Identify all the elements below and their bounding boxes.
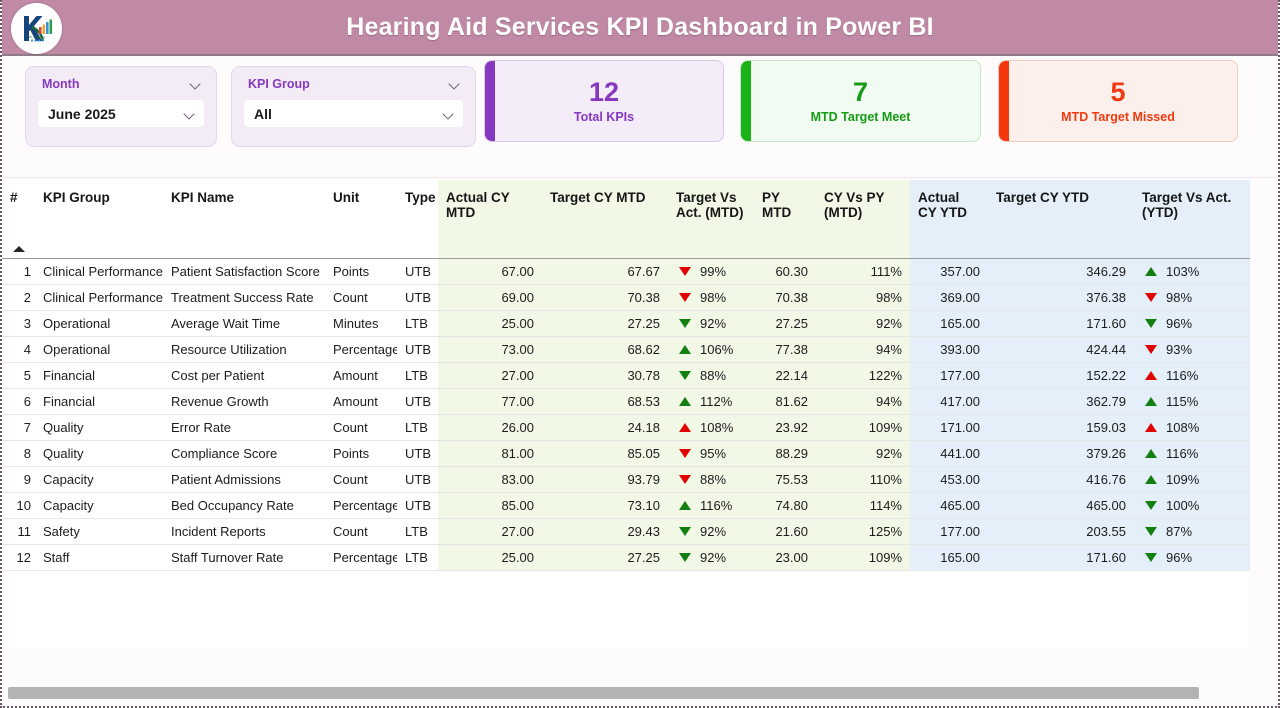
cell-target-vs-act-ytd-value: 96%	[1166, 550, 1204, 565]
cell-target-vs-act-ytd-value: 87%	[1166, 524, 1204, 539]
cell-target-vs-act-mtd-value: 92%	[700, 524, 738, 539]
kpi-matrix-container: # KPI Group KPI Name Unit Type Actual CY…	[2, 180, 1278, 706]
mtd-target-meet-label: MTD Target Meet	[811, 110, 911, 124]
cell-name: Treatment Success Rate	[163, 284, 325, 310]
column-header-unit[interactable]: Unit	[325, 180, 397, 258]
cell-unit: Count	[325, 414, 397, 440]
cell-target-vs-act-mtd-value: 112%	[700, 394, 738, 409]
cell-group: Capacity	[35, 492, 163, 518]
total-kpis-label: Total KPIs	[574, 110, 634, 124]
cell-actual_cy_ytd: 177.00	[910, 518, 988, 544]
cell-name: Resource Utilization	[163, 336, 325, 362]
trend-down-red-icon	[679, 449, 691, 458]
cell-cy_vs_py_mtd: 94%	[816, 336, 910, 362]
cell-cy_vs_py_mtd: 94%	[816, 388, 910, 414]
table-row[interactable]: 10CapacityBed Occupancy RatePercentageUT…	[2, 492, 1250, 518]
sort-ascending-icon[interactable]	[13, 246, 25, 252]
month-slicer-label: Month	[42, 77, 79, 91]
cell-actual_cy_ytd: 369.00	[910, 284, 988, 310]
trend-down-green-icon	[1145, 527, 1157, 536]
cell-actual_cy_mtd: 73.00	[438, 336, 542, 362]
cell-actual_cy_mtd: 69.00	[438, 284, 542, 310]
column-header-index[interactable]: #	[2, 180, 35, 258]
cell-py_mtd: 74.80	[754, 492, 816, 518]
cell-py_mtd: 21.60	[754, 518, 816, 544]
trend-down-green-icon	[1145, 319, 1157, 328]
cell-target-vs-act-mtd-value: 106%	[700, 342, 738, 357]
table-row[interactable]: 11SafetyIncident ReportsCountLTB27.0029.…	[2, 518, 1250, 544]
month-dropdown[interactable]: June 2025	[38, 100, 204, 127]
cell-target_cy_ytd: 376.38	[988, 284, 1134, 310]
cell-target_cy_mtd: 67.67	[542, 258, 668, 284]
trend-down-green-icon	[679, 527, 691, 536]
chevron-down-icon[interactable]	[449, 78, 461, 90]
cell-target-vs-act-mtd: 116%	[668, 492, 754, 518]
cell-idx: 11	[2, 518, 35, 544]
cell-unit: Points	[325, 258, 397, 284]
cell-group: Clinical Performance	[35, 258, 163, 284]
column-header-target-vs-act-ytd[interactable]: Target Vs Act. (YTD)	[1134, 180, 1250, 258]
mtd-target-missed-label: MTD Target Missed	[1061, 110, 1175, 124]
cell-target-vs-act-mtd-value: 116%	[700, 498, 738, 513]
cell-actual_cy_mtd: 26.00	[438, 414, 542, 440]
trend-down-green-icon	[1145, 501, 1157, 510]
cell-idx: 6	[2, 388, 35, 414]
cell-target-vs-act-ytd-value: 109%	[1166, 472, 1204, 487]
cell-idx: 5	[2, 362, 35, 388]
kpi-group-dropdown[interactable]: All	[244, 100, 463, 127]
cell-target_cy_ytd: 362.79	[988, 388, 1134, 414]
cell-target-vs-act-ytd: 87%	[1134, 518, 1250, 544]
trend-down-green-icon	[679, 371, 691, 380]
cell-target-vs-act-ytd-value: 116%	[1166, 368, 1204, 383]
cell-unit: Count	[325, 518, 397, 544]
cell-idx: 10	[2, 492, 35, 518]
table-row[interactable]: 6FinancialRevenue GrowthAmountUTB77.0068…	[2, 388, 1250, 414]
cell-actual_cy_ytd: 441.00	[910, 440, 988, 466]
cell-idx: 1	[2, 258, 35, 284]
cell-group: Financial	[35, 388, 163, 414]
column-header-target-cy-ytd[interactable]: Target CY YTD	[988, 180, 1134, 258]
report-page: RK Analytics Hearing Aid Services KPI Da…	[0, 0, 1280, 708]
cell-py_mtd: 77.38	[754, 336, 816, 362]
cell-actual_cy_mtd: 83.00	[438, 466, 542, 492]
trend-down-green-icon	[1145, 553, 1157, 562]
trend-down-red-icon	[1145, 293, 1157, 302]
control-strip: Month June 2025 KPI Group All	[2, 56, 1278, 178]
trend-up-green-icon	[1145, 267, 1157, 276]
table-row[interactable]: 2Clinical PerformanceTreatment Success R…	[2, 284, 1250, 310]
card-accent-bar	[485, 61, 495, 141]
cell-target-vs-act-mtd: 112%	[668, 388, 754, 414]
kpi-matrix-header-row: # KPI Group KPI Name Unit Type Actual CY…	[2, 180, 1250, 258]
cell-target_cy_mtd: 24.18	[542, 414, 668, 440]
cell-unit: Points	[325, 440, 397, 466]
cell-actual_cy_ytd: 357.00	[910, 258, 988, 284]
total-kpis-value: 12	[589, 78, 619, 106]
cell-target-vs-act-mtd-value: 98%	[700, 290, 738, 305]
cell-name: Average Wait Time	[163, 310, 325, 336]
cell-group: Safety	[35, 518, 163, 544]
cell-actual_cy_ytd: 393.00	[910, 336, 988, 362]
cell-target-vs-act-ytd-value: 98%	[1166, 290, 1204, 305]
trend-up-red-icon	[1145, 371, 1157, 380]
cell-type: LTB	[397, 414, 438, 440]
cell-actual_cy_mtd: 81.00	[438, 440, 542, 466]
chevron-down-icon[interactable]	[184, 108, 196, 120]
cell-target-vs-act-ytd: 93%	[1134, 336, 1250, 362]
cell-name: Staff Turnover Rate	[163, 544, 325, 570]
cell-target-vs-act-ytd: 96%	[1134, 544, 1250, 570]
cell-target-vs-act-mtd-value: 92%	[700, 550, 738, 565]
trend-up-green-icon	[679, 501, 691, 510]
trend-up-red-icon	[1145, 423, 1157, 432]
cell-name: Patient Satisfaction Score	[163, 258, 325, 284]
cell-type: UTB	[397, 466, 438, 492]
cell-target-vs-act-ytd-value: 100%	[1166, 498, 1204, 513]
cell-target-vs-act-mtd: 92%	[668, 310, 754, 336]
cell-target-vs-act-mtd-value: 88%	[700, 368, 738, 383]
cell-cy_vs_py_mtd: 98%	[816, 284, 910, 310]
cell-idx: 3	[2, 310, 35, 336]
cell-unit: Percentage	[325, 492, 397, 518]
trend-up-green-icon	[679, 345, 691, 354]
trend-down-green-icon	[679, 553, 691, 562]
cell-actual_cy_ytd: 171.00	[910, 414, 988, 440]
table-row[interactable]: 9CapacityPatient AdmissionsCountUTB83.00…	[2, 466, 1250, 492]
mtd-target-missed-value: 5	[1110, 78, 1125, 106]
cell-type: UTB	[397, 492, 438, 518]
kpi-matrix-body: 1Clinical PerformancePatient Satisfactio…	[2, 258, 1250, 570]
cell-group: Quality	[35, 414, 163, 440]
horizontal-scrollbar-thumb[interactable]	[8, 687, 1199, 699]
month-slicer[interactable]: Month June 2025	[25, 66, 217, 147]
cell-unit: Count	[325, 284, 397, 310]
cell-type: UTB	[397, 258, 438, 284]
cell-actual_cy_mtd: 77.00	[438, 388, 542, 414]
cell-name: Compliance Score	[163, 440, 325, 466]
kpi-group-slicer[interactable]: KPI Group All	[231, 66, 476, 147]
cell-name: Patient Admissions	[163, 466, 325, 492]
cell-actual_cy_ytd: 165.00	[910, 310, 988, 336]
cell-target_cy_ytd: 379.26	[988, 440, 1134, 466]
cell-target-vs-act-mtd-value: 88%	[700, 472, 738, 487]
horizontal-scrollbar[interactable]	[8, 687, 1272, 699]
cell-target-vs-act-mtd: 92%	[668, 518, 754, 544]
cell-idx: 7	[2, 414, 35, 440]
kpi-card-mtd-target-meet[interactable]: 7 MTD Target Meet	[740, 60, 981, 142]
kpi-card-mtd-target-missed[interactable]: 5 MTD Target Missed	[998, 60, 1238, 142]
column-header-type[interactable]: Type	[397, 180, 438, 258]
cell-actual_cy_ytd: 453.00	[910, 466, 988, 492]
cell-target_cy_ytd: 424.44	[988, 336, 1134, 362]
report-canvas: Month June 2025 KPI Group All	[2, 56, 1278, 706]
trend-down-red-icon	[679, 267, 691, 276]
kpi-group-slicer-label: KPI Group	[248, 77, 310, 91]
cell-target-vs-act-ytd: 100%	[1134, 492, 1250, 518]
cell-type: UTB	[397, 336, 438, 362]
cell-target-vs-act-mtd: 88%	[668, 362, 754, 388]
table-row[interactable]: 4OperationalResource UtilizationPercenta…	[2, 336, 1250, 362]
cell-py_mtd: 23.92	[754, 414, 816, 440]
cell-target_cy_mtd: 93.79	[542, 466, 668, 492]
table-row[interactable]: 5FinancialCost per PatientAmountLTB27.00…	[2, 362, 1250, 388]
cell-target_cy_mtd: 29.43	[542, 518, 668, 544]
cell-target_cy_mtd: 27.25	[542, 310, 668, 336]
cell-target-vs-act-mtd: 92%	[668, 544, 754, 570]
cell-target_cy_ytd: 346.29	[988, 258, 1134, 284]
cell-unit: Minutes	[325, 310, 397, 336]
cell-name: Error Rate	[163, 414, 325, 440]
cell-py_mtd: 22.14	[754, 362, 816, 388]
cell-cy_vs_py_mtd: 109%	[816, 544, 910, 570]
table-row[interactable]: 1Clinical PerformancePatient Satisfactio…	[2, 258, 1250, 284]
cell-actual_cy_ytd: 177.00	[910, 362, 988, 388]
cell-target-vs-act-mtd: 95%	[668, 440, 754, 466]
cell-type: LTB	[397, 518, 438, 544]
cell-group: Capacity	[35, 466, 163, 492]
cell-type: LTB	[397, 544, 438, 570]
cell-unit: Count	[325, 466, 397, 492]
cell-target-vs-act-mtd: 98%	[668, 284, 754, 310]
cell-idx: 8	[2, 440, 35, 466]
kpi-group-selected-value: All	[254, 106, 272, 122]
column-header-actual-cy-mtd[interactable]: Actual CY MTD	[438, 180, 542, 258]
kpi-matrix-table[interactable]: # KPI Group KPI Name Unit Type Actual CY…	[2, 180, 1250, 571]
cell-actual_cy_mtd: 67.00	[438, 258, 542, 284]
cell-group: Operational	[35, 310, 163, 336]
table-row[interactable]: 8QualityCompliance ScorePointsUTB81.0085…	[2, 440, 1250, 466]
cell-group: Quality	[35, 440, 163, 466]
cell-target-vs-act-mtd-value: 95%	[700, 446, 738, 461]
cell-target_cy_ytd: 152.22	[988, 362, 1134, 388]
cell-target-vs-act-mtd: 106%	[668, 336, 754, 362]
cell-py_mtd: 88.29	[754, 440, 816, 466]
cell-target-vs-act-ytd-value: 96%	[1166, 316, 1204, 331]
cell-unit: Percentage	[325, 544, 397, 570]
cell-target_cy_ytd: 203.55	[988, 518, 1134, 544]
cell-cy_vs_py_mtd: 114%	[816, 492, 910, 518]
cell-target-vs-act-ytd: 96%	[1134, 310, 1250, 336]
cell-py_mtd: 27.25	[754, 310, 816, 336]
trend-down-red-icon	[679, 293, 691, 302]
cell-target-vs-act-ytd-value: 115%	[1166, 394, 1204, 409]
cell-type: UTB	[397, 284, 438, 310]
brand-logo-icon: RK Analytics	[11, 3, 62, 54]
card-accent-bar	[741, 61, 751, 141]
cell-group: Staff	[35, 544, 163, 570]
cell-type: UTB	[397, 388, 438, 414]
table-row[interactable]: 7QualityError RateCountLTB26.0024.18108%…	[2, 414, 1250, 440]
svg-text:RK Analytics: RK Analytics	[28, 35, 46, 39]
cell-name: Cost per Patient	[163, 362, 325, 388]
column-header-cy-vs-py-mtd[interactable]: CY Vs PY (MTD)	[816, 180, 910, 258]
cell-name: Bed Occupancy Rate	[163, 492, 325, 518]
trend-up-green-icon	[1145, 397, 1157, 406]
column-header-kpi-group[interactable]: KPI Group	[35, 180, 163, 258]
trend-down-green-icon	[679, 319, 691, 328]
table-row[interactable]: 3OperationalAverage Wait TimeMinutesLTB2…	[2, 310, 1250, 336]
cell-target-vs-act-ytd: 116%	[1134, 440, 1250, 466]
cell-group: Financial	[35, 362, 163, 388]
month-selected-value: June 2025	[48, 106, 116, 122]
cell-target-vs-act-mtd: 99%	[668, 258, 754, 284]
cell-actual_cy_mtd: 85.00	[438, 492, 542, 518]
cell-target_cy_ytd: 416.76	[988, 466, 1134, 492]
mtd-target-meet-value: 7	[853, 78, 868, 106]
trend-down-red-icon	[679, 475, 691, 484]
kpi-matrix-viewport[interactable]: # KPI Group KPI Name Unit Type Actual CY…	[2, 180, 1250, 650]
cell-cy_vs_py_mtd: 125%	[816, 518, 910, 544]
cell-target-vs-act-ytd-value: 116%	[1166, 446, 1204, 461]
cell-cy_vs_py_mtd: 92%	[816, 310, 910, 336]
cell-target-vs-act-mtd-value: 108%	[700, 420, 738, 435]
cell-target_cy_ytd: 159.03	[988, 414, 1134, 440]
cell-target_cy_mtd: 85.05	[542, 440, 668, 466]
cell-cy_vs_py_mtd: 109%	[816, 414, 910, 440]
chevron-down-icon[interactable]	[443, 108, 455, 120]
cell-py_mtd: 70.38	[754, 284, 816, 310]
cell-type: LTB	[397, 310, 438, 336]
cell-py_mtd: 81.62	[754, 388, 816, 414]
cell-actual_cy_mtd: 27.00	[438, 362, 542, 388]
trend-up-green-icon	[679, 397, 691, 406]
chevron-down-icon[interactable]	[190, 78, 202, 90]
kpi-card-total-kpis[interactable]: 12 Total KPIs	[484, 60, 724, 142]
cell-cy_vs_py_mtd: 110%	[816, 466, 910, 492]
cell-target-vs-act-ytd: 103%	[1134, 258, 1250, 284]
dashboard-header: RK Analytics Hearing Aid Services KPI Da…	[2, 0, 1278, 56]
cell-target-vs-act-mtd-value: 99%	[700, 264, 738, 279]
cell-group: Clinical Performance	[35, 284, 163, 310]
table-row[interactable]: 12StaffStaff Turnover RatePercentageLTB2…	[2, 544, 1250, 570]
cell-py_mtd: 23.00	[754, 544, 816, 570]
cell-target_cy_ytd: 465.00	[988, 492, 1134, 518]
cell-target_cy_mtd: 68.53	[542, 388, 668, 414]
column-header-actual-cy-ytd[interactable]: Actual CY YTD	[910, 180, 988, 258]
cell-actual_cy_ytd: 165.00	[910, 544, 988, 570]
cell-target-vs-act-ytd: 98%	[1134, 284, 1250, 310]
cell-cy_vs_py_mtd: 111%	[816, 258, 910, 284]
cell-target-vs-act-ytd-value: 103%	[1166, 264, 1204, 279]
cell-target-vs-act-mtd: 88%	[668, 466, 754, 492]
trend-up-green-icon	[1145, 449, 1157, 458]
card-accent-bar	[999, 61, 1009, 141]
cell-actual_cy_ytd: 417.00	[910, 388, 988, 414]
column-header-py-mtd[interactable]: PY MTD	[754, 180, 816, 258]
cell-target_cy_ytd: 171.60	[988, 310, 1134, 336]
cell-unit: Amount	[325, 362, 397, 388]
cell-py_mtd: 60.30	[754, 258, 816, 284]
page-title: Hearing Aid Services KPI Dashboard in Po…	[346, 13, 934, 42]
cell-cy_vs_py_mtd: 92%	[816, 440, 910, 466]
cell-target-vs-act-ytd: 109%	[1134, 466, 1250, 492]
cell-group: Operational	[35, 336, 163, 362]
cell-actual_cy_mtd: 25.00	[438, 544, 542, 570]
month-slicer-header[interactable]: Month	[38, 77, 204, 91]
cell-actual_cy_mtd: 27.00	[438, 518, 542, 544]
cell-target_cy_mtd: 27.25	[542, 544, 668, 570]
cell-idx: 9	[2, 466, 35, 492]
cell-actual_cy_mtd: 25.00	[438, 310, 542, 336]
cell-idx: 2	[2, 284, 35, 310]
trend-up-red-icon	[679, 423, 691, 432]
cell-actual_cy_ytd: 465.00	[910, 492, 988, 518]
trend-up-green-icon	[1145, 475, 1157, 484]
cell-unit: Amount	[325, 388, 397, 414]
column-header-kpi-name[interactable]: KPI Name	[163, 180, 325, 258]
cell-cy_vs_py_mtd: 122%	[816, 362, 910, 388]
cell-target-vs-act-ytd-value: 108%	[1166, 420, 1204, 435]
cell-idx: 12	[2, 544, 35, 570]
column-header-target-cy-mtd[interactable]: Target CY MTD	[542, 180, 668, 258]
cell-py_mtd: 75.53	[754, 466, 816, 492]
cell-target_cy_ytd: 171.60	[988, 544, 1134, 570]
cell-idx: 4	[2, 336, 35, 362]
cell-target-vs-act-mtd: 108%	[668, 414, 754, 440]
cell-type: UTB	[397, 440, 438, 466]
cell-name: Incident Reports	[163, 518, 325, 544]
column-header-target-vs-act-mtd[interactable]: Target Vs Act. (MTD)	[668, 180, 754, 258]
trend-down-red-icon	[1145, 345, 1157, 354]
kpi-group-slicer-header[interactable]: KPI Group	[244, 77, 463, 91]
cell-target-vs-act-ytd: 115%	[1134, 388, 1250, 414]
cell-target-vs-act-ytd: 116%	[1134, 362, 1250, 388]
cell-target-vs-act-ytd-value: 93%	[1166, 342, 1204, 357]
cell-target-vs-act-ytd: 108%	[1134, 414, 1250, 440]
cell-name: Revenue Growth	[163, 388, 325, 414]
cell-target_cy_mtd: 73.10	[542, 492, 668, 518]
cell-target-vs-act-mtd-value: 92%	[700, 316, 738, 331]
cell-target_cy_mtd: 30.78	[542, 362, 668, 388]
cell-target_cy_mtd: 70.38	[542, 284, 668, 310]
cell-target_cy_mtd: 68.62	[542, 336, 668, 362]
cell-unit: Percentage	[325, 336, 397, 362]
cell-type: LTB	[397, 362, 438, 388]
